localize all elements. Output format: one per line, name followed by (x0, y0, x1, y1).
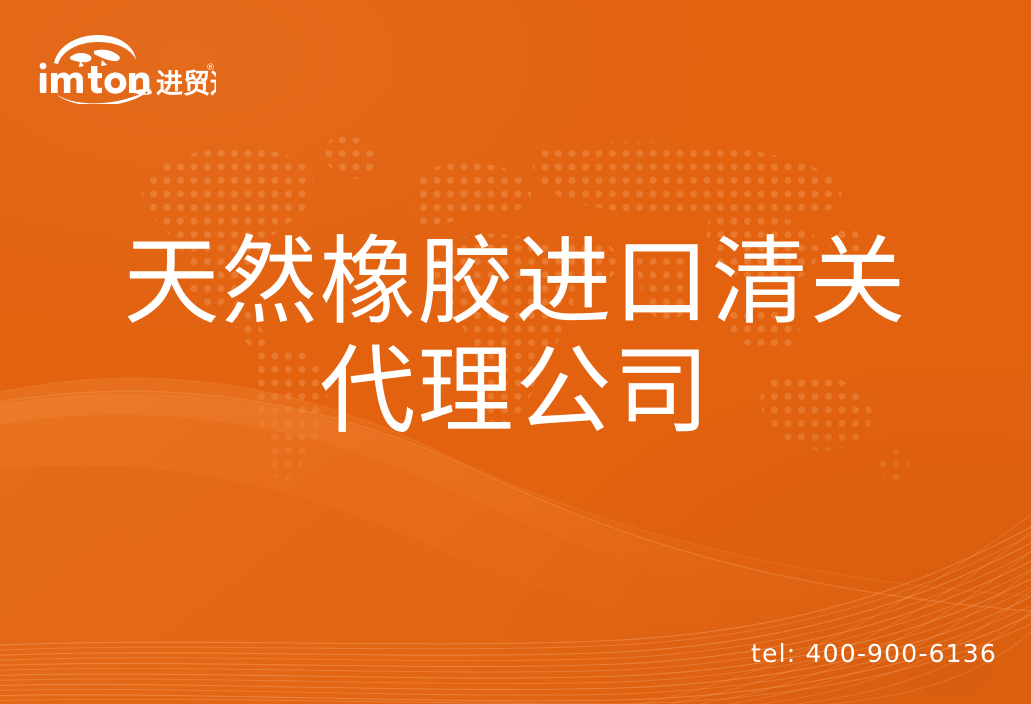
logo-chinese-text: 进贸通 ® (156, 63, 216, 100)
globe-arc-icon (54, 35, 136, 67)
headline-line-1: 天然橡胶进口清关 (0, 228, 1031, 337)
imton-logo[interactable]: 进贸通 ® (36, 30, 216, 104)
promo-banner: 进贸通 ® 天然橡胶进口清关 代理公司 tel: 400-900-6136 (0, 0, 1031, 704)
wordmark-imton (40, 63, 150, 94)
svg-text:®: ® (206, 63, 215, 73)
svg-text:进贸通: 进贸通 (156, 69, 216, 100)
contact-phone[interactable]: tel: 400-900-6136 (751, 639, 997, 668)
swoosh-icon (56, 88, 152, 104)
page-title: 天然橡胶进口清关 代理公司 (0, 228, 1031, 447)
headline-line-2: 代理公司 (0, 337, 1031, 446)
